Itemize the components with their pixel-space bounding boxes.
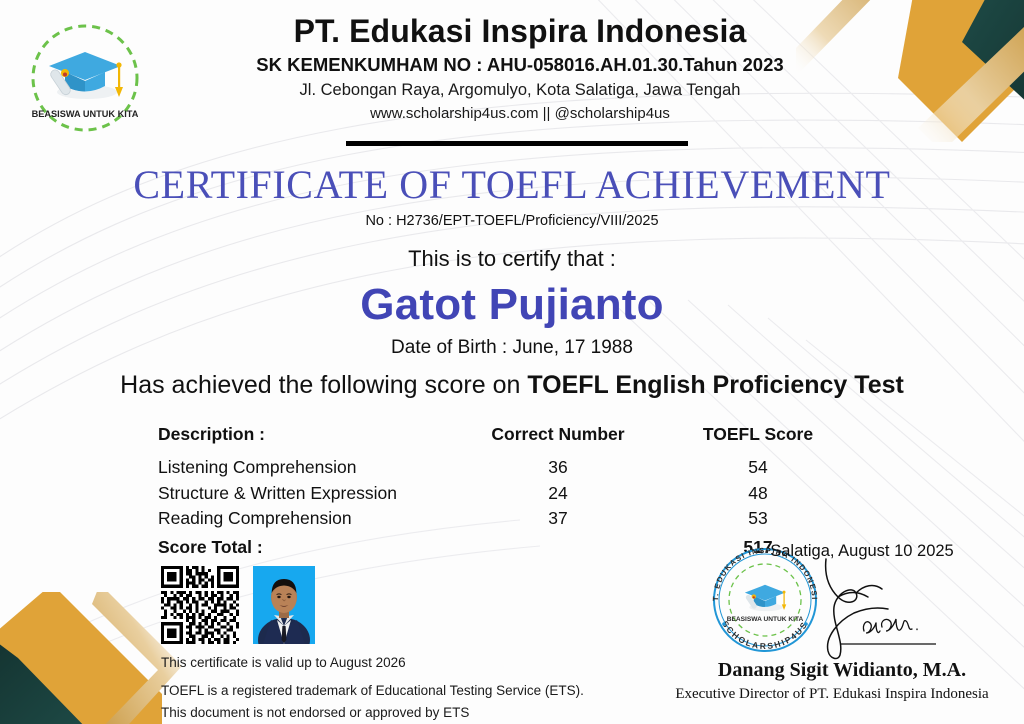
table-row: Reading Comprehension 37 53 [158,506,858,532]
footer-disclaimer: This certificate is valid up to August 2… [161,652,681,724]
organization-address: Jl. Cebongan Raya, Argomulyo, Kota Salat… [180,81,860,101]
achievement-prefix: Has achieved the following score on [120,371,527,399]
row-score: 53 [658,506,858,532]
row-score: 54 [658,455,858,481]
signatory-name: Danang Sigit Widianto, M.A. [660,659,1024,682]
header-toefl-score: TOEFL Score [658,420,858,455]
signatory-role: Executive Director of PT. Edukasi Inspir… [640,686,1024,703]
company-logo: BEASISWA UNTUK KITA [25,18,145,138]
recipient-name: Gatot Pujianto [0,280,1024,330]
handwritten-signature [800,555,940,665]
stamp-cap-icon [745,585,786,611]
organization-name: PT. Edukasi Inspira Indonesia [180,14,860,50]
recipient-photo [253,566,315,644]
page-title: CERTIFICATE OF TOEFL ACHIEVEMENT [0,163,1024,207]
stamp-inner-text: BEASISWA UNTUK KITA [727,616,804,623]
recipient-date-of-birth: Date of Birth : June, 17 1988 [0,337,1024,359]
table-header-row: Description : Correct Number TOEFL Score [158,420,858,455]
validity-text: This certificate is valid up to August 2… [161,652,681,674]
row-description: Reading Comprehension [158,506,458,532]
row-description: Structure & Written Expression [158,481,458,507]
total-spacer [458,532,658,561]
row-score: 48 [658,481,858,507]
row-correct: 36 [458,455,658,481]
stamp-bottom-text: SCHOLARSHIP4US [720,619,810,651]
certificate-page: BEASISWA UNTUK KITA PT. Edukasi Inspira … [0,0,1024,724]
table-row: Structure & Written Expression 24 48 [158,481,858,507]
table-row: Listening Comprehension 36 54 [158,455,858,481]
logo-caption: BEASISWA UNTUK KITA [32,109,139,119]
certificate-number: No : H2736/EPT-TOEFL/Proficiency/VIII/20… [0,213,1024,229]
total-label: Score Total : [158,532,458,561]
header-divider [346,141,688,146]
certify-label: This is to certify that : [0,246,1024,272]
row-description: Listening Comprehension [158,455,458,481]
achievement-statement: Has achieved the following score on TOEF… [0,371,1024,400]
trademark-text: TOEFL is a registered trademark of Educa… [161,680,681,702]
header-correct-number: Correct Number [458,420,658,455]
legal-registration-number: SK KEMENKUMHAM NO : AHU-058016.AH.01.30.… [180,54,860,76]
row-correct: 24 [458,481,658,507]
organization-website: www.scholarship4us.com || @scholarship4u… [180,105,860,123]
qr-code[interactable] [161,566,239,644]
graduation-cap-icon [49,52,123,99]
row-correct: 37 [458,506,658,532]
test-name: TOEFL English Proficiency Test [527,371,903,399]
endorsement-text: This document is not endorsed or approve… [161,702,681,724]
header-description: Description : [158,420,458,455]
